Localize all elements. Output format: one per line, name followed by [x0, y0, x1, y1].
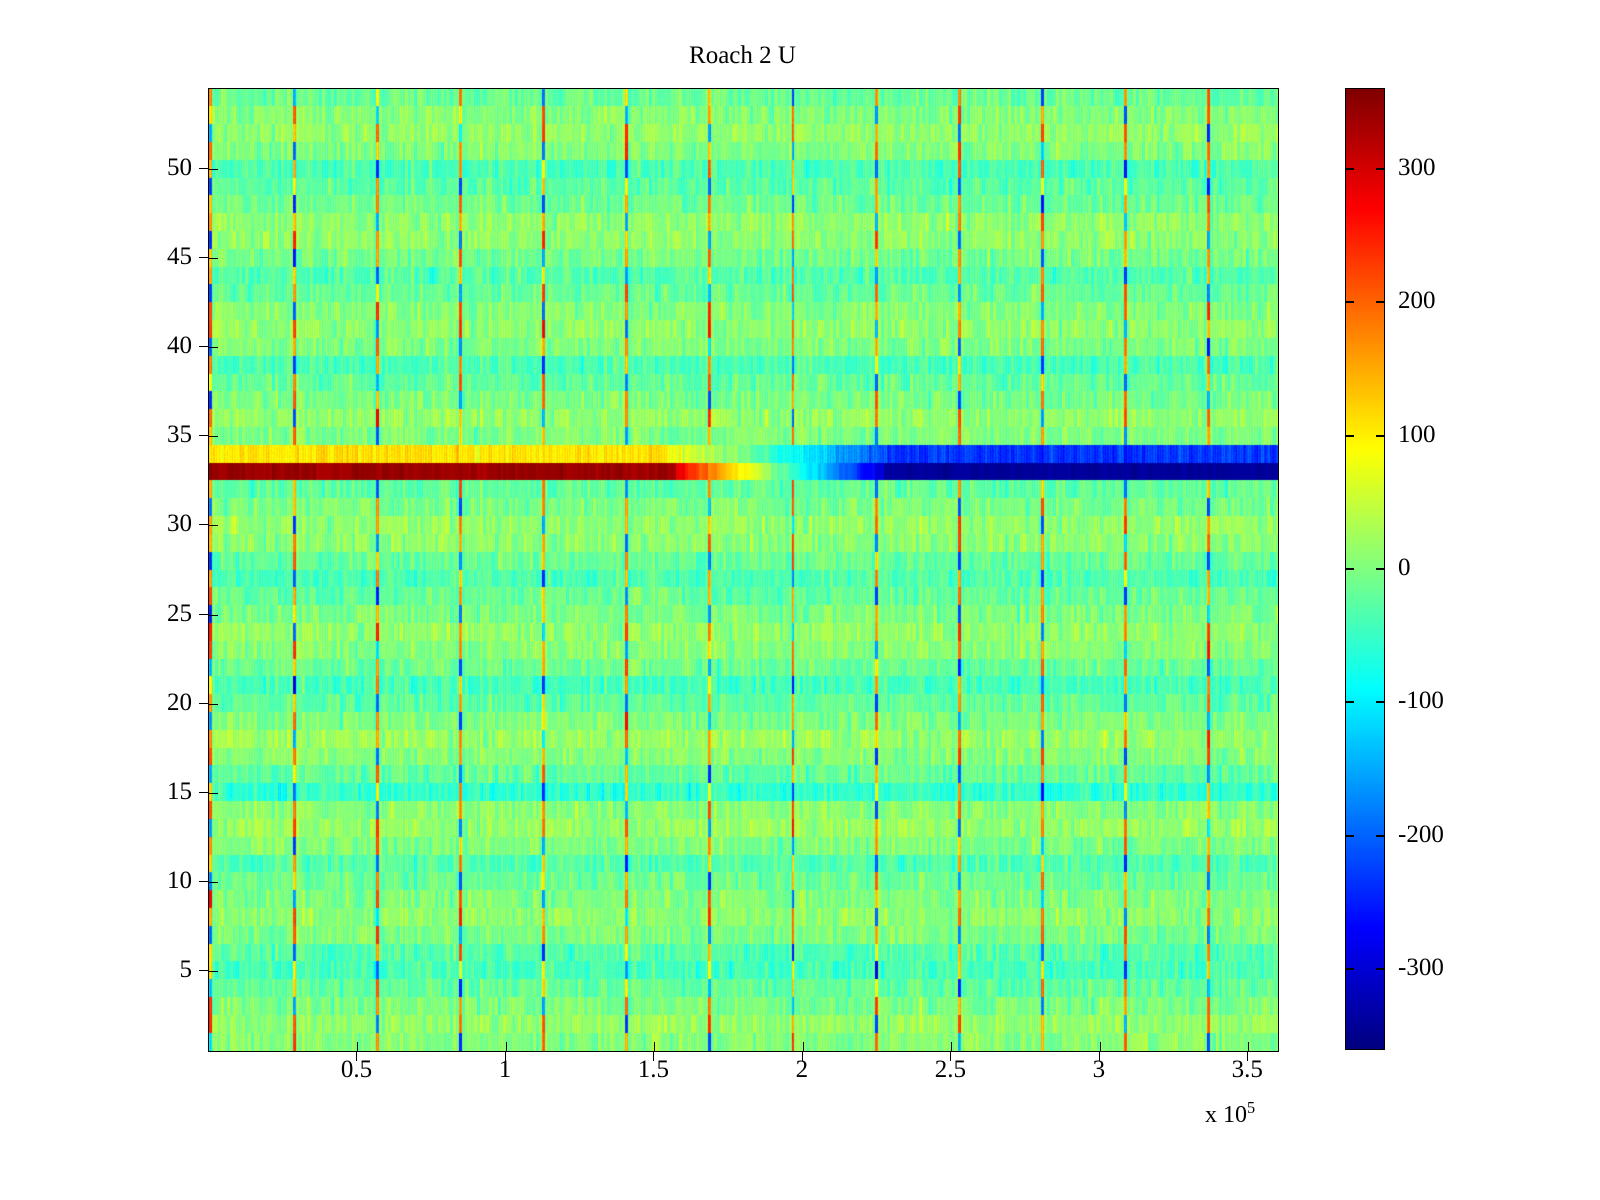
heatmap-axes[interactable] [208, 88, 1279, 1052]
x-axis-tick-label: 0.5 [341, 1056, 372, 1084]
y-axis-tick-label: 20 [0, 689, 192, 717]
colorbar-tick [1345, 701, 1354, 703]
colorbar-tick [1345, 301, 1354, 303]
x-axis-tick-label: 3.5 [1232, 1056, 1263, 1084]
x-exponent-power: 5 [1247, 1098, 1255, 1117]
colorbar-tick-label: 100 [1398, 421, 1436, 449]
x-axis-tick-inner [803, 1042, 804, 1051]
y-axis-tick-inner [209, 615, 218, 616]
y-axis-tick-inner [209, 793, 218, 794]
y-axis-tick [199, 792, 208, 793]
colorbar-tick-label: -300 [1398, 954, 1444, 982]
x-axis-tick-label: 1 [499, 1056, 512, 1084]
colorbar-tick [1345, 835, 1354, 837]
colorbar-tick-label: 200 [1398, 287, 1436, 315]
y-axis-tick-inner [209, 436, 218, 437]
heatmap-image [209, 89, 1278, 1051]
y-axis-tick-inner [209, 882, 218, 883]
y-axis-tick-inner [209, 169, 218, 170]
colorbar-tick [1376, 701, 1385, 703]
y-axis-tick [199, 168, 208, 169]
y-axis-tick [199, 614, 208, 615]
page-title: Roach 2 U [208, 42, 1277, 70]
y-axis-tick-label: 15 [0, 778, 192, 806]
y-axis-tick-label: 35 [0, 421, 192, 449]
colorbar-tick [1376, 568, 1385, 570]
x-axis-exponent-label: x 105 [1205, 1098, 1255, 1129]
x-exponent-base: x 10 [1205, 1102, 1247, 1128]
y-axis-tick-label: 40 [0, 332, 192, 360]
y-axis-tick-label: 50 [0, 154, 192, 182]
y-axis-tick-label: 30 [0, 510, 192, 538]
x-axis-tick-label: 3 [1093, 1056, 1106, 1084]
y-axis-tick-inner [209, 347, 218, 348]
colorbar-tick-label: 0 [1398, 554, 1411, 582]
x-axis-tick-label: 2 [796, 1056, 809, 1084]
colorbar-tick [1345, 168, 1354, 170]
x-axis-tick-label: 2.5 [935, 1056, 966, 1084]
x-axis-tick-inner [1248, 1042, 1249, 1051]
colorbar-tick [1376, 435, 1385, 437]
y-axis-tick [199, 257, 208, 258]
y-axis-tick-label: 10 [0, 867, 192, 895]
x-axis-tick-inner [654, 1042, 655, 1051]
colorbar-tick [1376, 835, 1385, 837]
y-axis-tick-label: 45 [0, 243, 192, 271]
colorbar-tick [1345, 435, 1354, 437]
y-axis-tick-inner [209, 258, 218, 259]
y-axis-tick [199, 970, 208, 971]
y-axis-tick [199, 435, 208, 436]
colorbar-tick [1376, 168, 1385, 170]
y-axis-tick-inner [209, 525, 218, 526]
y-axis-tick-inner [209, 704, 218, 705]
x-axis-tick-inner [357, 1042, 358, 1051]
y-axis-tick-label: 25 [0, 600, 192, 628]
y-axis-tick-inner [209, 971, 218, 972]
colorbar-tick [1345, 568, 1354, 570]
y-axis-tick-label: 5 [0, 956, 192, 984]
figure-canvas: Roach 2 U 5101520253035404550 0.511.522.… [0, 0, 1600, 1200]
colorbar-tick [1376, 968, 1385, 970]
colorbar-tick [1376, 301, 1385, 303]
y-axis-tick [199, 703, 208, 704]
y-axis-tick [199, 346, 208, 347]
x-axis-tick-label: 1.5 [638, 1056, 669, 1084]
colorbar-tick-label: 300 [1398, 154, 1436, 182]
x-axis-tick-inner [951, 1042, 952, 1051]
y-axis-tick [199, 524, 208, 525]
x-axis-tick-inner [1100, 1042, 1101, 1051]
x-axis-tick-inner [506, 1042, 507, 1051]
colorbar-tick-label: -200 [1398, 821, 1444, 849]
y-axis-tick [199, 881, 208, 882]
colorbar-tick [1345, 968, 1354, 970]
colorbar-tick-label: -100 [1398, 687, 1444, 715]
